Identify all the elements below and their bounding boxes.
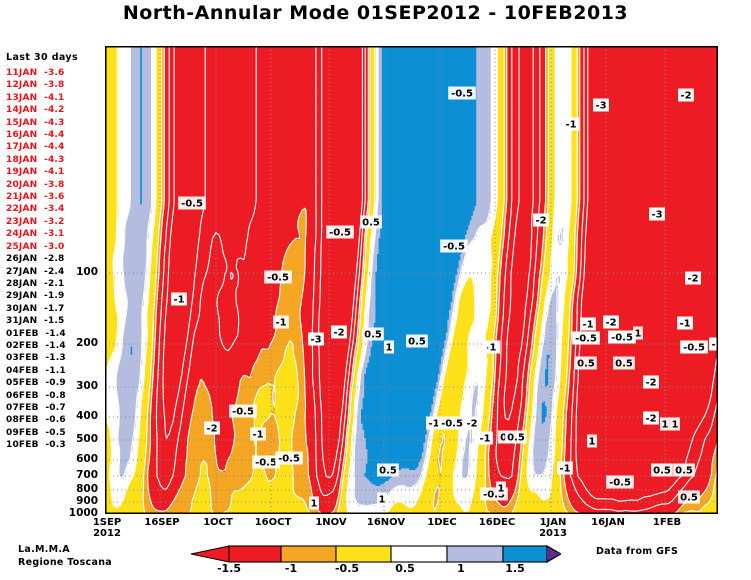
y-axis-tick: 300 [60, 380, 98, 392]
y-axis-tick: 500 [60, 433, 98, 445]
contour-label: -2 [605, 318, 616, 329]
last-30-days-row: 28JAN -2.1 [6, 278, 102, 290]
contour-label: 0.5 [408, 337, 426, 348]
colorbar-tick-label: -1 [271, 562, 311, 575]
last-30-days-row: 26JAN -2.8 [6, 253, 102, 265]
last-30-days-row: 17JAN -4.4 [6, 141, 102, 153]
contour-label: -2 [687, 274, 698, 285]
contour-label: -0.5 [232, 407, 254, 418]
last-30-days-row: 29JAN -1.9 [6, 290, 102, 302]
contour-label: 1 [589, 437, 596, 448]
contour-label: -1 [582, 320, 593, 331]
contour-label: 0.5 [615, 359, 633, 370]
last-30-days-row: 24JAN -3.1 [6, 228, 102, 240]
contour-label: -2 [535, 216, 546, 227]
contour-plot-canvas: -0.5-0.5-0.5-1-1-3-2-2-0.5-1-0.5-0.50.50… [105, 46, 718, 514]
colorbar-tick-label: 1 [441, 562, 481, 575]
x-axis-year-label: 2013 [518, 528, 588, 539]
contour-label: -0.5 [255, 458, 277, 469]
last-30-days-row: 16JAN -4.4 [6, 129, 102, 141]
last-30-days-row: 20JAN -3.8 [6, 179, 102, 191]
colorbar-swatch-white [391, 546, 447, 562]
last-30-days-row: 22JAN -3.4 [6, 203, 102, 215]
contour-label: -0.5 [181, 199, 203, 210]
contour-label: -1 [275, 318, 286, 329]
credit-lamma: La.M.M.A [18, 543, 112, 556]
contour-label: 1 [635, 329, 642, 340]
contour-label: -2 [466, 419, 477, 430]
contour-label: 1 [311, 499, 318, 510]
last-30-days-row: 23JAN -3.2 [6, 216, 102, 228]
contour-label: -2 [645, 414, 656, 425]
credit-regione-toscana: Regione Toscana [18, 556, 112, 569]
contour-label: -3 [310, 335, 321, 346]
last-30-days-row: 14JAN -4.2 [6, 104, 102, 116]
contour-label: -2 [645, 378, 656, 389]
last-30-days-row: 25JAN -3.0 [6, 241, 102, 253]
contour-label: -0.5 [267, 273, 289, 284]
contour-label: -0.5 [611, 333, 633, 344]
contour-label: 0.5 [680, 493, 698, 504]
last-30-days-row: 11JAN -3.6 [6, 67, 102, 79]
contour-label: 1 [672, 420, 679, 431]
contour-label: -2 [206, 424, 217, 435]
colorbar-under-arrow [191, 546, 229, 562]
last-30-days-row: 18JAN -4.3 [6, 154, 102, 166]
last-30-days-row: 12JAN -3.8 [6, 79, 102, 91]
contour-label: -3 [595, 101, 606, 112]
contour-label: -1 [252, 430, 263, 441]
contour-label: -1 [565, 120, 576, 131]
y-axis-tick: 800 [60, 483, 98, 495]
chart-page: North-Annular Mode 01SEP2012 - 10FEB2013… [0, 0, 751, 580]
contour-label: 0.5 [364, 330, 382, 341]
y-axis-tick: 600 [60, 453, 98, 465]
contour-label: -0.5 [609, 478, 631, 489]
contour-label: -0.5 [441, 419, 463, 430]
contour-label: -1 [479, 434, 490, 445]
colorbar-swatch-lavender [447, 546, 503, 562]
colorbar-tick-label: 0.5 [385, 562, 425, 575]
y-axis-tick: 200 [60, 337, 98, 349]
y-axis-tick: 700 [60, 469, 98, 481]
last-30-days-row: 30JAN -1.7 [6, 303, 102, 315]
contour-label: 1 [386, 343, 393, 354]
contour-label: 0.5 [507, 433, 525, 444]
last-30-days-list: 11JAN -3.612JAN -3.813JAN -4.114JAN -4.2… [6, 67, 102, 452]
contour-label: 0.5 [379, 466, 397, 477]
colorbar-swatch-blue [503, 546, 547, 562]
page-title: North-Annular Mode 01SEP2012 - 10FEB2013 [0, 2, 751, 24]
last-30-days-row: 21JAN -3.6 [6, 191, 102, 203]
contour-label: 1 [379, 495, 386, 506]
last-30-days-row: 15JAN -4.3 [6, 117, 102, 129]
contour-label: 1 [662, 420, 669, 431]
y-axis-tick: 900 [60, 495, 98, 507]
last-30-days-row: 19JAN -4.1 [6, 166, 102, 178]
contour-label: 0.5 [675, 466, 693, 477]
contour-plot: -0.5-0.5-0.5-1-1-3-2-2-0.5-1-0.5-0.50.50… [105, 46, 718, 514]
contour-label: -0.5 [451, 89, 473, 100]
colorbar-tick-label: -0.5 [327, 562, 367, 575]
contour-label: -3 [651, 210, 662, 221]
last-30-days-row: 31JAN -1.5 [6, 315, 102, 327]
last-30-days-row: 03FEB -1.3 [6, 352, 102, 364]
colorbar-tick-label: -1.5 [209, 562, 249, 575]
contour-label: -1 [559, 464, 570, 475]
contour-label: 1 [490, 343, 497, 354]
last-30-days-row: 13JAN -4.1 [6, 92, 102, 104]
contour-label: -2 [333, 328, 344, 339]
last-30-days-header: Last 30 days [6, 52, 102, 63]
contour-label: -1 [428, 419, 439, 430]
contour-label: 0.5 [362, 218, 380, 229]
contour-label: -0.5 [278, 454, 300, 465]
colorbar [191, 545, 561, 563]
contour-label: -1 [679, 319, 690, 330]
colorbar-swatch-orange [281, 546, 336, 562]
credit-right: Data from GFS [596, 546, 678, 557]
x-axis-year-label: 2012 [72, 528, 142, 539]
contour-label: -0.5 [683, 343, 705, 354]
last-30-days-row: 04FEB -1.1 [6, 365, 102, 377]
colorbar-swatch-yellow [336, 546, 391, 562]
contour-label: -0.5 [329, 228, 351, 239]
contour-fills [105, 46, 718, 514]
credit-left: La.M.M.A Regione Toscana [18, 543, 112, 569]
y-axis-tick: 400 [60, 410, 98, 422]
contour-label: -1 [173, 295, 184, 306]
y-axis-tick: 100 [60, 266, 98, 278]
contour-label: -2 [680, 91, 691, 102]
contour-label: 0.5 [577, 359, 595, 370]
x-axis-tick: 1FEB [632, 517, 702, 528]
contour-label: 0.5 [653, 466, 671, 477]
colorbar-swatch-red [229, 546, 281, 562]
colorbar-tick-label: 1.5 [495, 562, 535, 575]
contour-label: -0.5 [575, 334, 597, 345]
contour-label: 1 [498, 484, 505, 495]
contour-label: -0.5 [443, 242, 465, 253]
